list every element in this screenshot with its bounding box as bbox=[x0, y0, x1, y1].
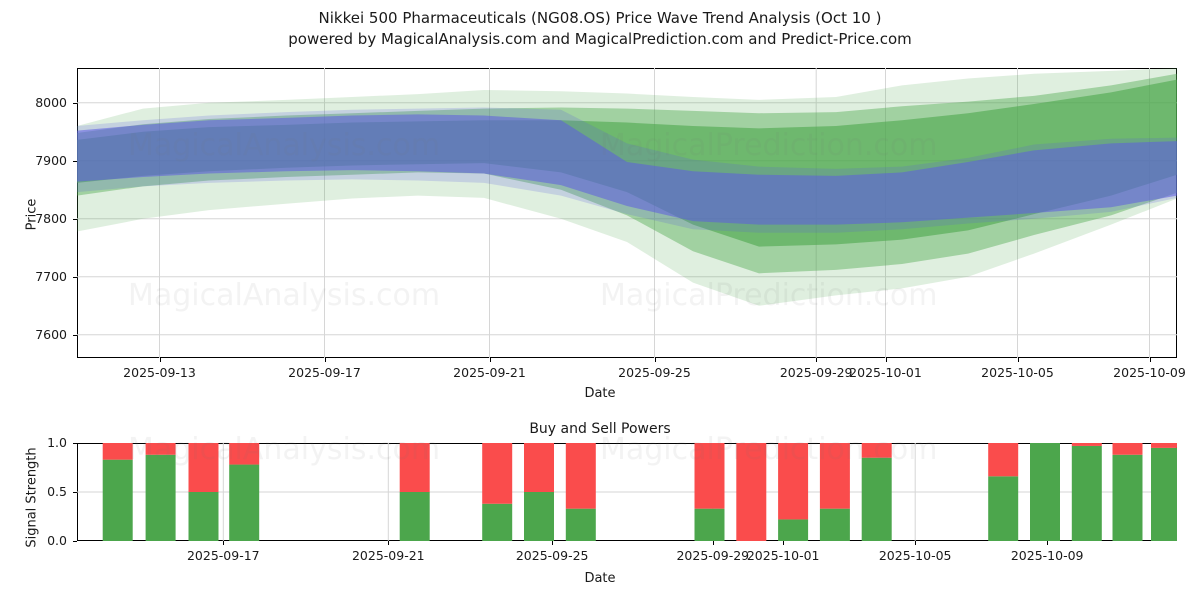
price-x-tickmark bbox=[1150, 358, 1151, 362]
power-x-tick-label: 2025-10-09 bbox=[992, 548, 1102, 563]
power-x-tick-label: 2025-09-25 bbox=[497, 548, 607, 563]
power-x-tick-label: 2025-09-17 bbox=[168, 548, 278, 563]
price-x-tickmark bbox=[655, 358, 656, 362]
price-x-tick-label: 2025-09-25 bbox=[600, 365, 710, 380]
power-x-tick-label: 2025-10-01 bbox=[728, 548, 838, 563]
price-y-tick-label: 7900 bbox=[5, 153, 67, 168]
price-x-tick-label: 2025-10-09 bbox=[1095, 365, 1200, 380]
price-y-tick-label: 8000 bbox=[5, 95, 67, 110]
price-x-tickmark bbox=[816, 358, 817, 362]
power-x-tickmark bbox=[915, 541, 916, 545]
price-y-tick-label: 7600 bbox=[5, 327, 67, 342]
power-x-tickmark bbox=[1047, 541, 1048, 545]
price-y-tick-label: 7800 bbox=[5, 211, 67, 226]
price-y-tickmark bbox=[73, 277, 77, 278]
price-x-tickmark bbox=[160, 358, 161, 362]
price-x-tick-label: 2025-10-05 bbox=[963, 365, 1073, 380]
power-x-tick-label: 2025-10-05 bbox=[860, 548, 970, 563]
price-y-tickmark bbox=[73, 161, 77, 162]
price-x-tickmark bbox=[886, 358, 887, 362]
price-x-tickmark bbox=[1018, 358, 1019, 362]
power-y-tickmark bbox=[73, 492, 77, 493]
price-y-tick-label: 7700 bbox=[5, 269, 67, 284]
power-y-tick-label: 0.5 bbox=[5, 484, 67, 499]
power-y-tickmark bbox=[73, 541, 77, 542]
power-chart-panel: Buy and Sell Powers Signal Strength Date… bbox=[0, 405, 1200, 600]
power-y-tickmark bbox=[73, 443, 77, 444]
price-x-tick-label: 2025-09-21 bbox=[435, 365, 545, 380]
power-x-tick-label: 2025-09-21 bbox=[333, 548, 443, 563]
power-x-tickmark bbox=[713, 541, 714, 545]
buy-sell-power-bars bbox=[0, 405, 1200, 600]
price-x-tick-label: 2025-10-01 bbox=[831, 365, 941, 380]
price-chart-panel: Price Date 760077007800790080002025-09-1… bbox=[0, 0, 1200, 405]
power-y-tick-label: 1.0 bbox=[5, 435, 67, 450]
price-x-tickmark bbox=[325, 358, 326, 362]
price-y-tickmark bbox=[73, 219, 77, 220]
price-x-tickmark bbox=[490, 358, 491, 362]
power-x-tickmark bbox=[552, 541, 553, 545]
price-wave-bands bbox=[0, 0, 1200, 405]
price-y-tickmark bbox=[73, 103, 77, 104]
power-x-tickmark bbox=[783, 541, 784, 545]
price-y-tickmark bbox=[73, 335, 77, 336]
power-x-tickmark bbox=[223, 541, 224, 545]
power-x-tickmark bbox=[388, 541, 389, 545]
power-y-tick-label: 0.0 bbox=[5, 533, 67, 548]
price-x-tick-label: 2025-09-13 bbox=[105, 365, 215, 380]
chart-page: Nikkei 500 Pharmaceuticals (NG08.OS) Pri… bbox=[0, 0, 1200, 600]
price-x-tick-label: 2025-09-17 bbox=[270, 365, 380, 380]
